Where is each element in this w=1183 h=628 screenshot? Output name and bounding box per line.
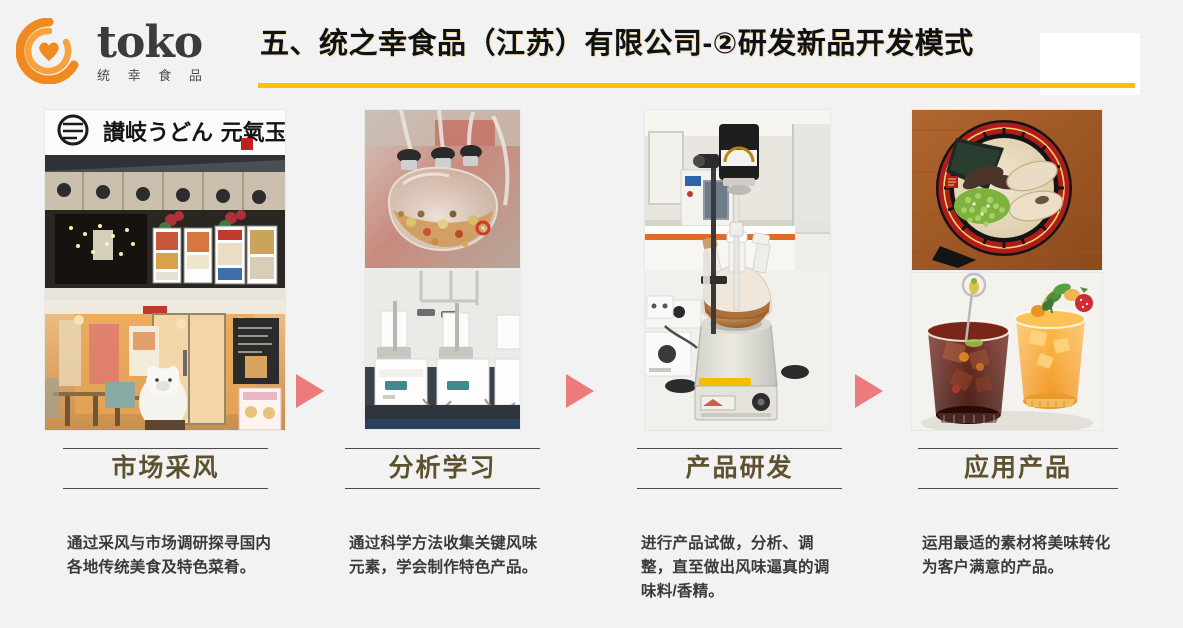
step-3-body: 进行产品试做，分析、调整，直至做出风味逼真的调味料/香精。 [641,532,841,604]
photo-two-cocktails [912,273,1102,430]
brand-wordmark-text: toko [97,22,203,64]
brand-subtitle-text: 统 幸 食 品 [90,69,209,82]
photo-lab-reactor-heating-mantle [645,110,830,430]
toko-heart-swirl-logo-icon [16,18,82,84]
photo-flask-with-food-ingredients [365,110,520,268]
step-3-photo-stack [645,110,830,430]
step-4-body: 运用最适的素材将美味转化为客户满意的产品。 [922,532,1122,580]
step-2-photo-stack [365,110,520,429]
photo-tonkotsu-ramen-bowl [912,110,1102,270]
step-1-body: 通过采风与市场调研探寻国内各地传统美食及特色菜肴。 [67,532,273,580]
photo-udon-restaurant-storefront: 讃岐うどん 元氣玉 [45,110,285,430]
step-4-photo-stack [912,110,1102,430]
slide-title: 五、统之幸食品（江苏）有限公司-②研发新品开发模式 [260,20,1160,62]
step-2-heading: 分析学习 [345,448,540,489]
step-1-heading: 市场采风 [63,448,268,489]
step-3-heading: 产品研发 [637,448,842,489]
brand-wordmark: toko 统 幸 食 品 [90,20,209,82]
process-flow: 讃岐うどん 元氣玉 [0,100,1183,628]
svg-text:讃岐うどん 元氣玉: 讃岐うどん 元氣玉 [103,120,285,146]
step-2-body: 通过科学方法收集关键风味元素，学会制作特色产品。 [349,532,549,580]
step-4: 应用产品 运用最适的素材将美味转化为客户满意的产品。 [912,100,1102,628]
brand-logo: toko 统 幸 食 品 [16,14,240,88]
flow-arrow-2-to-3 [566,374,594,408]
flow-arrow-3-to-4 [855,374,883,408]
step-3: 产品研发 进行产品试做，分析、调整，直至做出风味逼真的调味料/香精。 [645,100,830,628]
step-4-heading: 应用产品 [918,448,1118,489]
step-2: 分析学习 通过科学方法收集关键风味元素，学会制作特色产品。 [365,100,520,628]
slide-header: toko 统 幸 食 品 五、统之幸食品（江苏）有限公司-②研发新品开发模式 [0,0,1183,100]
flow-arrow-1-to-2 [296,374,324,408]
title-underline-rule [258,83,1135,88]
title-band: 五、统之幸食品（江苏）有限公司-②研发新品开发模式 [250,0,1183,100]
step-1-photo-stack: 讃岐うどん 元氣玉 [45,110,285,430]
step-1: 讃岐うどん 元氣玉 [45,100,285,628]
photo-lab-analysis-instruments [365,271,520,429]
